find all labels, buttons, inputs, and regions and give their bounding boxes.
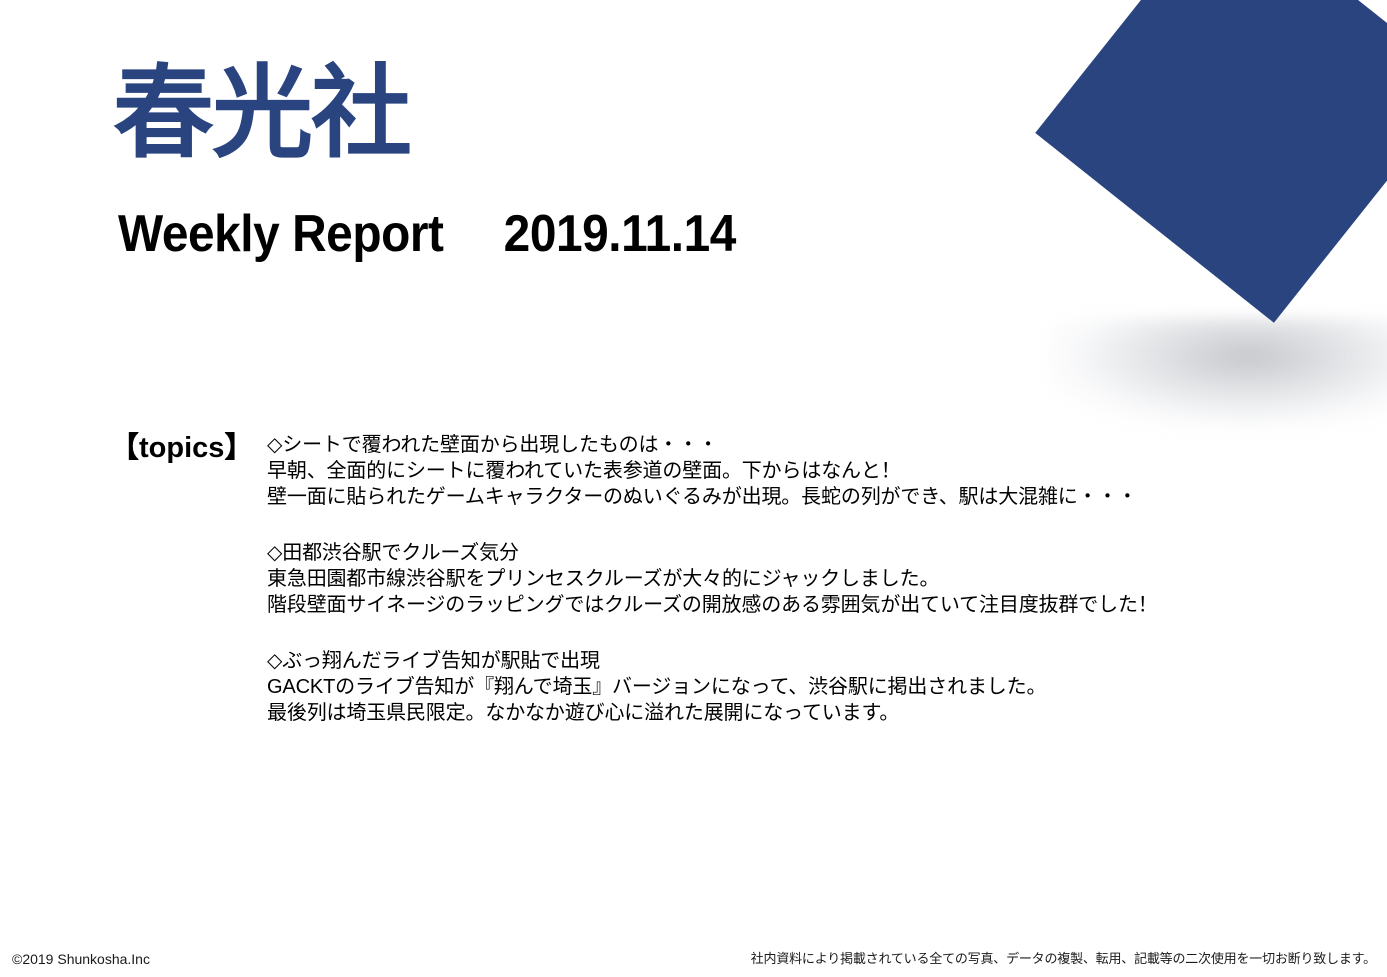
topic-line: 壁一面に貼られたゲームキャラクターのぬいぐるみが出現。長蛇の列ができ、駅は大混雑… bbox=[267, 484, 1357, 510]
topic-line: 階段壁面サイネージのラッピングではクルーズの開放感のある雰囲気が出ていて注目度抜… bbox=[267, 592, 1357, 618]
diamond-shadow bbox=[1048, 318, 1387, 428]
topic-line: GACKTのライブ告知が『翔んで埼玉』バージョンになって、渋谷駅に掲出されました… bbox=[267, 674, 1357, 700]
topic-heading: ◇ぶっ翔んだライブ告知が駅貼で出現 bbox=[267, 648, 1357, 674]
topic-block: ◇田都渋谷駅でクルーズ気分 東急田園都市線渋谷駅をプリンセスクルーズが大々的にジ… bbox=[267, 540, 1357, 618]
topic-block: ◇ぶっ翔んだライブ告知が駅貼で出現 GACKTのライブ告知が『翔んで埼玉』バージ… bbox=[267, 648, 1357, 726]
slide-canvas: 春光社 Weekly Report 2019.11.14 【topics】 ◇シ… bbox=[0, 0, 1387, 977]
topic-heading: ◇シートで覆われた壁面から出現したものは・・・ bbox=[267, 432, 1357, 458]
topics-label: 【topics】 bbox=[110, 433, 253, 465]
topic-line: 東急田園都市線渋谷駅をプリンセスクルーズが大々的にジャックしました。 bbox=[267, 566, 1357, 592]
company-logo: 春光社 bbox=[113, 63, 410, 164]
topic-heading: ◇田都渋谷駅でクルーズ気分 bbox=[267, 540, 1357, 566]
decorative-diamond-shape bbox=[1035, 0, 1387, 323]
topic-line: 早朝、全面的にシートに覆われていた表参道の壁面。下からはなんと！ bbox=[267, 458, 1357, 484]
footer-disclaimer: 社内資料により掲載されている全ての写真、データの複製、転用、記載等の二次使用を一… bbox=[751, 951, 1376, 967]
topic-block: ◇シートで覆われた壁面から出現したものは・・・ 早朝、全面的にシートに覆われてい… bbox=[267, 432, 1357, 510]
footer-copyright: ©2019 Shunkosha.Inc bbox=[12, 951, 150, 968]
topics-body: ◇シートで覆われた壁面から出現したものは・・・ 早朝、全面的にシートに覆われてい… bbox=[267, 432, 1357, 726]
topic-line: 最後列は埼玉県民限定。なかなか遊び心に溢れた展開になっています。 bbox=[267, 700, 1357, 726]
page-title: Weekly Report 2019.11.14 bbox=[118, 206, 736, 262]
